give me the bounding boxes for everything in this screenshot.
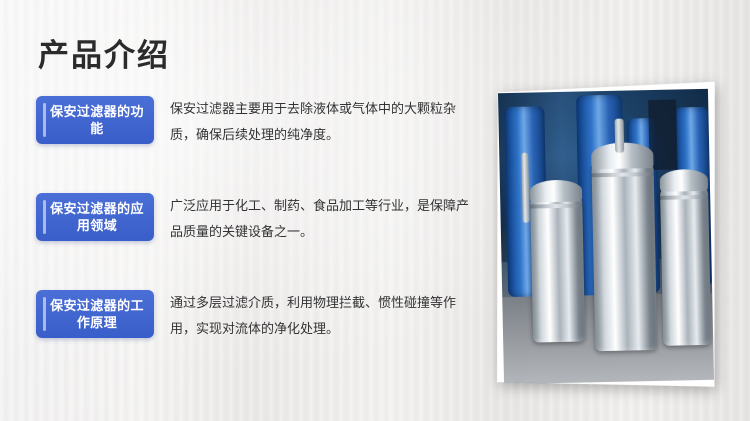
tag-notch-icon — [43, 297, 46, 331]
list-item: 保安过滤器的功能 保安过滤器主要用于去除液体或气体中的大颗粒杂质，确保后续处理的… — [36, 96, 476, 149]
bullet-tag-label: 保安过滤器的应用领域 — [42, 200, 148, 234]
bullet-tag-principle[interactable]: 保安过滤器的工作原理 — [36, 290, 154, 338]
slide: 产品介绍 保安过滤器的功能 保安过滤器主要用于去除液体或气体中的大颗粒杂质，确保… — [0, 0, 750, 421]
page-title: 产品介绍 — [38, 30, 170, 75]
product-photo — [491, 82, 721, 392]
filter-vessel-left-cap — [530, 179, 582, 202]
list-item: 保安过滤器的工作原理 通过多层过滤介质，利用物理拦截、惯性碰撞等作用，实现对流体… — [36, 290, 476, 343]
filter-vessel-left — [530, 193, 585, 342]
bullet-tag-label: 保安过滤器的工作原理 — [42, 297, 148, 331]
bullet-tag-application[interactable]: 保安过滤器的应用领域 — [36, 193, 154, 241]
filter-vessel-left-pipe — [521, 153, 529, 223]
bullet-list: 保安过滤器的功能 保安过滤器主要用于去除液体或气体中的大颗粒杂质，确保后续处理的… — [36, 96, 476, 343]
filter-vessel-right — [660, 185, 711, 346]
filter-vessel-center — [591, 160, 657, 351]
bullet-tag-function[interactable]: 保安过滤器的功能 — [36, 96, 154, 144]
tag-notch-icon — [43, 103, 46, 137]
filter-vessel-center-pipe — [615, 119, 625, 153]
bullet-description: 通过多层过滤介质，利用物理拦截、惯性碰撞等作用，实现对流体的净化处理。 — [170, 290, 476, 343]
filter-vessel-right-cap — [660, 169, 708, 192]
list-item: 保安过滤器的应用领域 广泛应用于化工、制药、食品加工等行业，是保障产品质量的关键… — [36, 193, 476, 246]
bullet-tag-label: 保安过滤器的功能 — [42, 103, 148, 137]
tag-notch-icon — [43, 200, 46, 234]
bullet-description: 保安过滤器主要用于去除液体或气体中的大颗粒杂质，确保后续处理的纯净度。 — [170, 96, 476, 149]
photo-image — [498, 89, 714, 384]
photo-frame — [491, 82, 721, 392]
bullet-description: 广泛应用于化工、制药、食品加工等行业，是保障产品质量的关键设备之一。 — [170, 193, 476, 246]
